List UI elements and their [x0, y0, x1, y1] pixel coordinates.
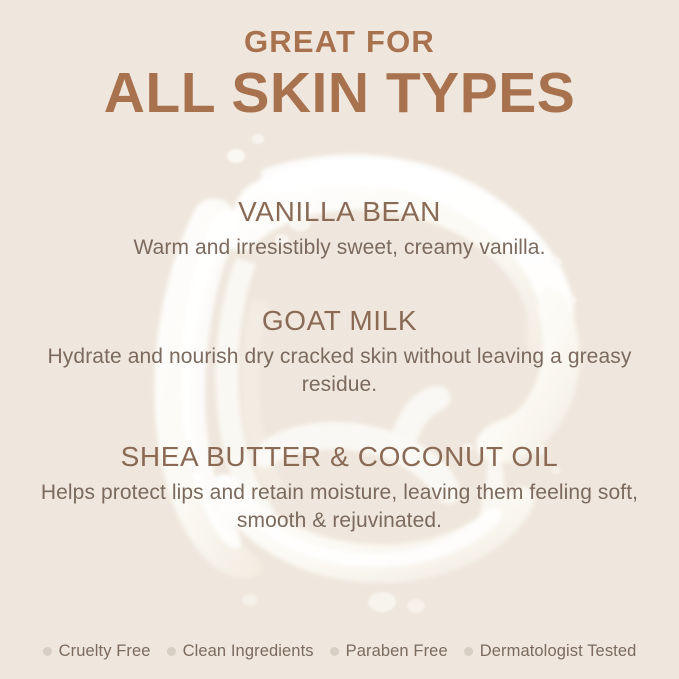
page-title: ALL SKIN TYPES [0, 63, 679, 125]
badge-label: Paraben Free [346, 642, 448, 661]
badge-dermatologist-tested: Dermatologist Tested [456, 642, 645, 661]
certification-badge-row: Cruelty Free Clean Ingredients Paraben F… [0, 642, 679, 661]
ingredient-name: GOAT MILK [40, 303, 640, 338]
ingredient-goat-milk: GOAT MILK Hydrate and nourish dry cracke… [40, 303, 640, 398]
ingredient-vanilla-bean: VANILLA BEAN Warm and irresistibly sweet… [40, 194, 640, 262]
badge-paraben-free: Paraben Free [322, 642, 456, 661]
badge-cruelty-free: Cruelty Free [35, 642, 159, 661]
headline-block: GREAT FOR ALL SKIN TYPES [0, 0, 679, 124]
ingredient-description: Warm and irresistibly sweet, creamy vani… [40, 234, 640, 262]
product-benefits-graphic: GREAT FOR ALL SKIN TYPES VANILLA BEAN Wa… [0, 0, 679, 679]
badge-label: Clean Ingredients [183, 642, 314, 661]
eyebrow-text: GREAT FOR [0, 26, 679, 59]
ingredient-list: VANILLA BEAN Warm and irresistibly sweet… [0, 194, 679, 535]
bullet-dot-icon [167, 647, 176, 656]
content-layer: GREAT FOR ALL SKIN TYPES VANILLA BEAN Wa… [0, 0, 679, 679]
bullet-dot-icon [464, 647, 473, 656]
ingredient-name: VANILLA BEAN [40, 194, 640, 229]
ingredient-description: Helps protect lips and retain moisture, … [40, 479, 640, 534]
badge-label: Cruelty Free [59, 642, 151, 661]
badge-label: Dermatologist Tested [480, 642, 637, 661]
badge-clean-ingredients: Clean Ingredients [159, 642, 322, 661]
ingredient-shea-butter-coconut-oil: SHEA BUTTER & COCONUT OIL Helps protect … [40, 439, 640, 534]
ingredient-name: SHEA BUTTER & COCONUT OIL [40, 439, 640, 474]
ingredient-description: Hydrate and nourish dry cracked skin wit… [40, 343, 640, 398]
bullet-dot-icon [330, 647, 339, 656]
bullet-dot-icon [43, 647, 52, 656]
